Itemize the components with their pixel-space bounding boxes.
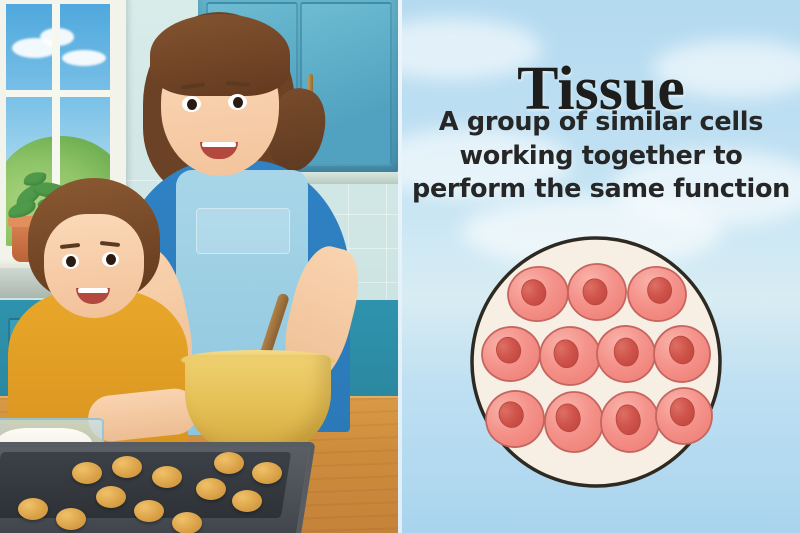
cell-group [479,262,714,455]
cookie-dough-ball [18,498,48,520]
definition-panel: Tissue A group of similar cells working … [402,0,800,533]
cookie-dough-ball [214,452,244,474]
infographic-page: Tissue A group of similar cells working … [0,0,800,533]
cookie-dough-ball [232,490,262,512]
cookie-dough-ball [252,462,282,484]
child-pupil-left [66,256,76,267]
cookie-dough-ball [196,478,226,500]
cookie-dough-ball [134,500,164,522]
cookie-dough-ball [96,486,126,508]
cookie-dough-ball [56,508,86,530]
cookie-dough-ball [112,456,142,478]
window-cloud [62,50,106,66]
panel-divider [398,0,402,533]
apron-pocket [196,208,290,254]
definition-line-3: perform the same function [410,173,792,207]
definition-line-1: A group of similar cells [410,106,792,140]
woman-hair-front [150,14,290,96]
definition-text: A group of similar cells working togethe… [410,106,792,207]
cookie-dough-ball [152,466,182,488]
kitchen-illustration-panel [0,0,398,533]
woman-pupil-right [233,97,243,108]
tissue-cell-diagram [470,236,722,488]
cookie-dough-ball [72,462,102,484]
child-pupil-right [106,254,116,265]
child-teeth [78,288,108,293]
definition-line-2: working together to [410,140,792,174]
woman-pupil-left [187,99,197,110]
tissue-cell [544,391,604,453]
woman-teeth [202,142,236,147]
cookie-dough-ball [172,512,202,533]
window-mullion-horizontal [6,90,110,97]
